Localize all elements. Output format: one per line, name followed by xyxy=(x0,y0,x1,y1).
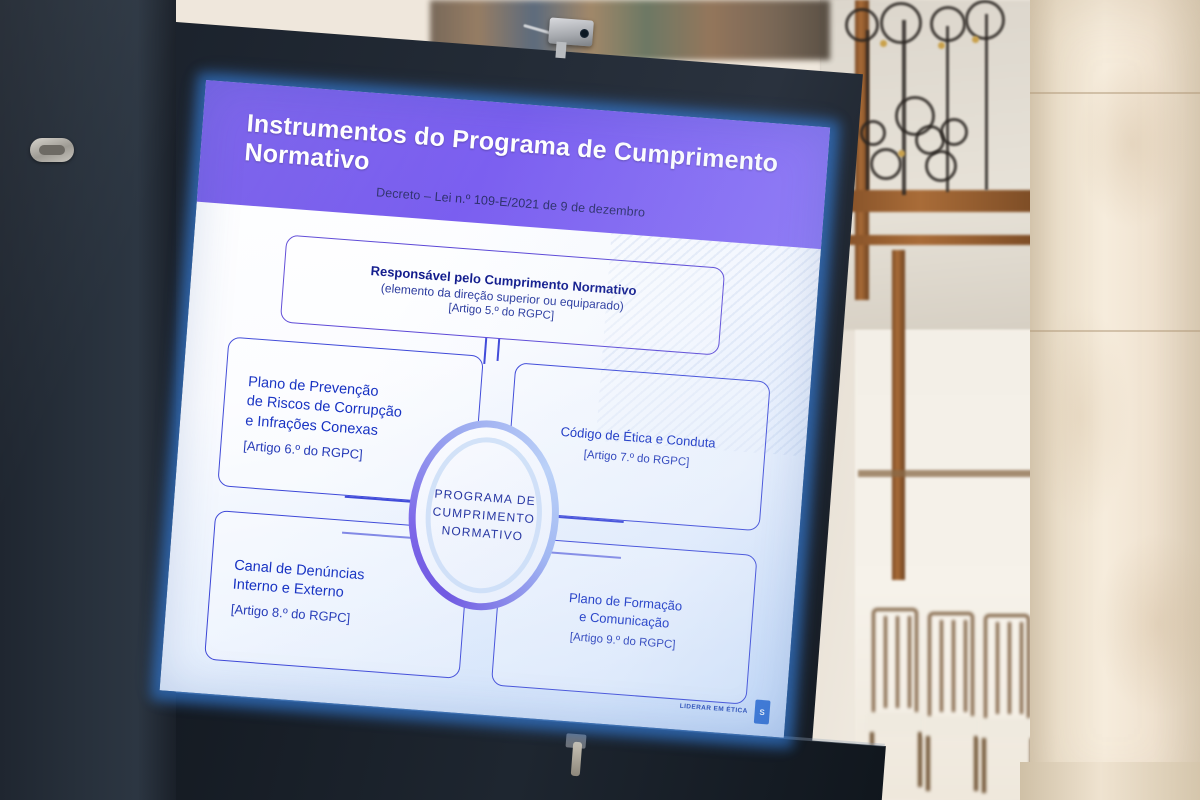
center-label: PROGRAMA DE CUMPRIMENTO NORMATIVO xyxy=(402,415,566,616)
handle-icon[interactable] xyxy=(30,138,74,162)
footer-badge-text: S xyxy=(759,707,765,716)
center-oval: PROGRAMA DE CUMPRIMENTO NORMATIVO xyxy=(402,415,566,616)
center-line-3: NORMATIVO xyxy=(441,523,524,543)
cabinet-panel xyxy=(0,0,176,800)
connector-spine xyxy=(483,338,487,364)
tv-screen[interactable]: Instrumentos do Programa de Cumprimento … xyxy=(160,80,831,738)
webcam-icon xyxy=(548,17,594,46)
footer-badge: S xyxy=(754,699,771,724)
footer-logo-text: LIDERAR EM ÉTICA xyxy=(679,702,747,714)
presentation-slide: Instrumentos do Programa de Cumprimento … xyxy=(160,80,831,738)
slide-footer: LIDERAR EM ÉTICA S xyxy=(679,694,771,725)
webcam-clip xyxy=(555,42,566,59)
display-unit: Instrumentos do Programa de Cumprimento … xyxy=(0,0,1200,800)
connector-top xyxy=(497,339,500,361)
